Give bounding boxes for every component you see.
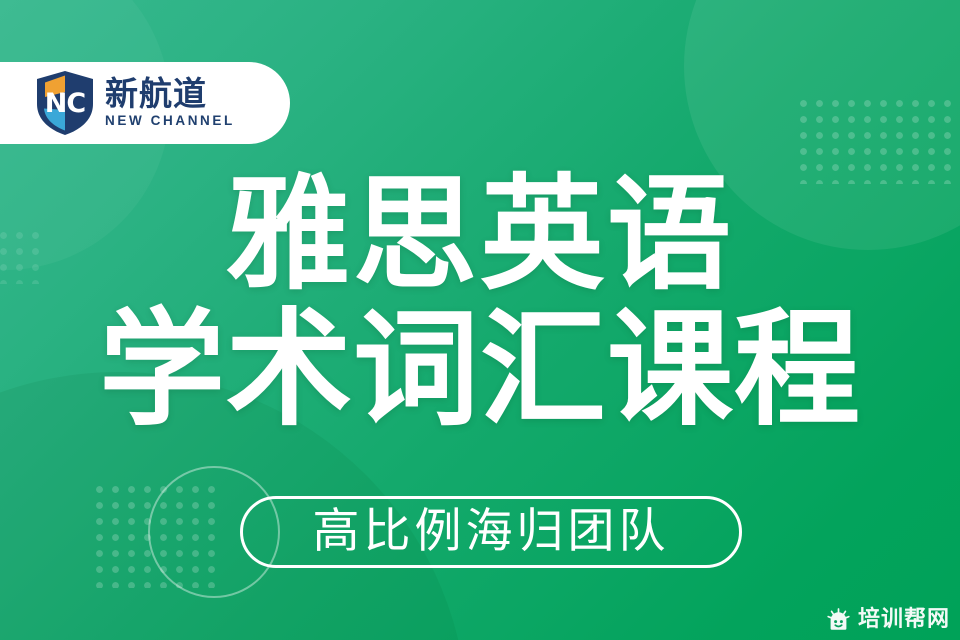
subtitle-pill: 高比例海归团队: [240, 496, 742, 568]
svg-text:NC: NC: [45, 88, 86, 119]
site-watermark: 培训帮网: [826, 607, 950, 632]
headline-line-1: 雅思英语: [0, 168, 960, 302]
headline-block: 雅思英语 学术词汇课程: [0, 168, 960, 438]
shield-logo-icon: NC: [34, 70, 96, 136]
sun-face-icon: [826, 607, 851, 632]
brand-logo-badge: NC 新航道 NEW CHANNEL: [0, 62, 290, 144]
brand-logo-text: 新航道 NEW CHANNEL: [105, 77, 235, 129]
headline-line-2: 学术词汇课程: [0, 302, 960, 438]
dot-grid-bottom-left: [96, 486, 224, 588]
subtitle-text: 高比例海归团队: [313, 507, 670, 557]
course-poster: NC 新航道 NEW CHANNEL 雅思英语 学术词汇课程 高比例海归团队: [0, 0, 960, 640]
watermark-text: 培训帮网: [858, 608, 950, 632]
brand-name-cn: 新航道: [105, 77, 235, 111]
brand-name-en: NEW CHANNEL: [105, 113, 235, 129]
